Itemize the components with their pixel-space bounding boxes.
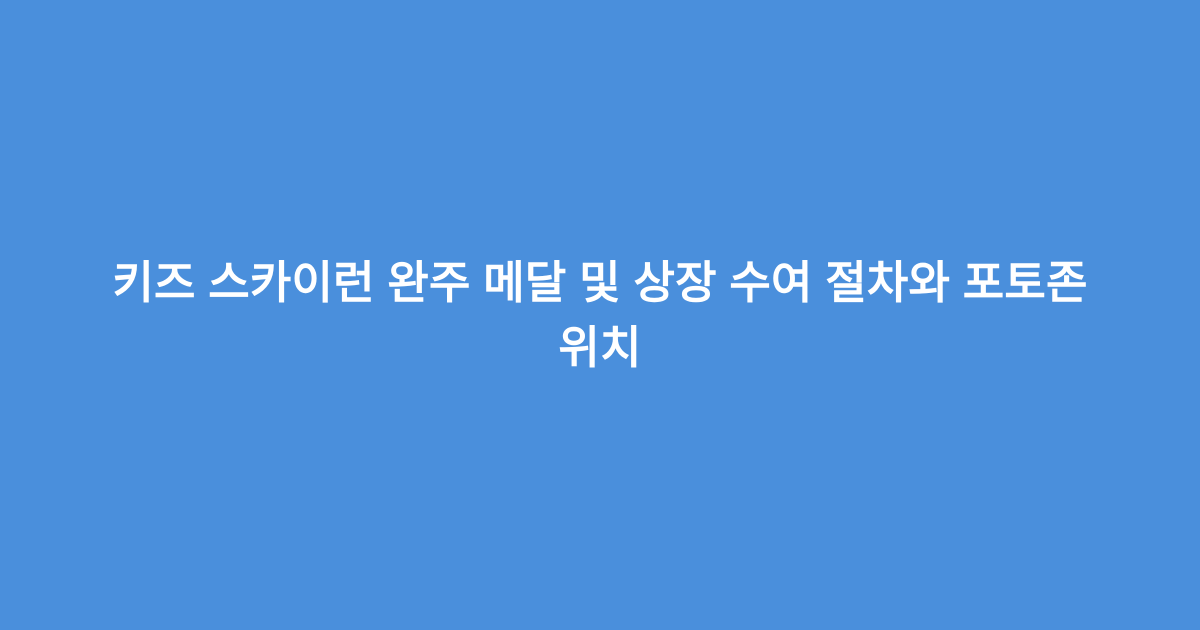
banner-title: 키즈 스카이런 완주 메달 및 상장 수여 절차와 포토존 위치 [0,250,1200,381]
share-banner-card: 키즈 스카이런 완주 메달 및 상장 수여 절차와 포토존 위치 [0,0,1200,630]
